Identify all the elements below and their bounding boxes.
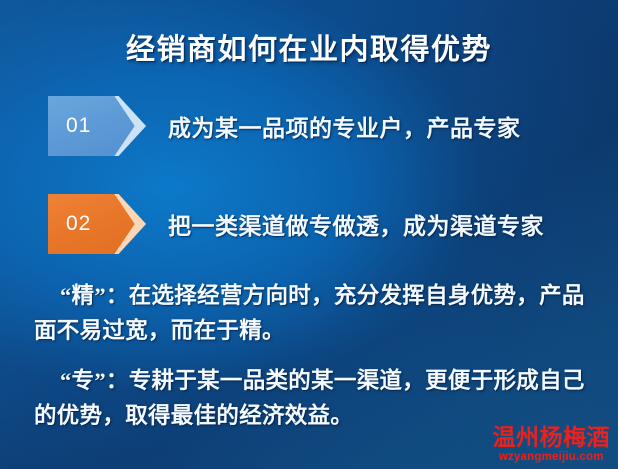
body-paragraph-zhuan: “专”：专耕于某一品类的某一渠道，更便于形成自己的优势，取得最佳的经济效益。 <box>34 363 594 433</box>
watermark-url: wzyangmeijiu.com <box>493 452 611 464</box>
step-row-2: 02 把一类渠道做专做透，成为渠道专家 <box>0 193 618 255</box>
step-number-02: 02 <box>66 212 91 236</box>
body-paragraph-jing: “精”：在选择经营方向时，充分发挥自身优势，产品面不易过宽，而在于精。 <box>34 278 594 348</box>
step-number-01: 01 <box>66 114 91 138</box>
page-title: 经销商如何在业内取得优势 <box>0 26 618 68</box>
watermark: 温州杨梅酒 wzyangmeijiu.com <box>493 426 611 464</box>
step-chevron-01: 01 <box>48 96 146 156</box>
slide-canvas: 经销商如何在业内取得优势 01 成为某一品项的专业户，产品专家 02 把一类渠道… <box>0 0 618 469</box>
step-chevron-02: 02 <box>48 194 146 254</box>
step-row-1: 01 成为某一品项的专业户，产品专家 <box>0 95 618 157</box>
step-text-01: 成为某一品项的专业户，产品专家 <box>168 109 521 143</box>
step-text-02: 把一类渠道做专做透，成为渠道专家 <box>168 207 544 241</box>
watermark-name: 温州杨梅酒 <box>493 426 611 449</box>
